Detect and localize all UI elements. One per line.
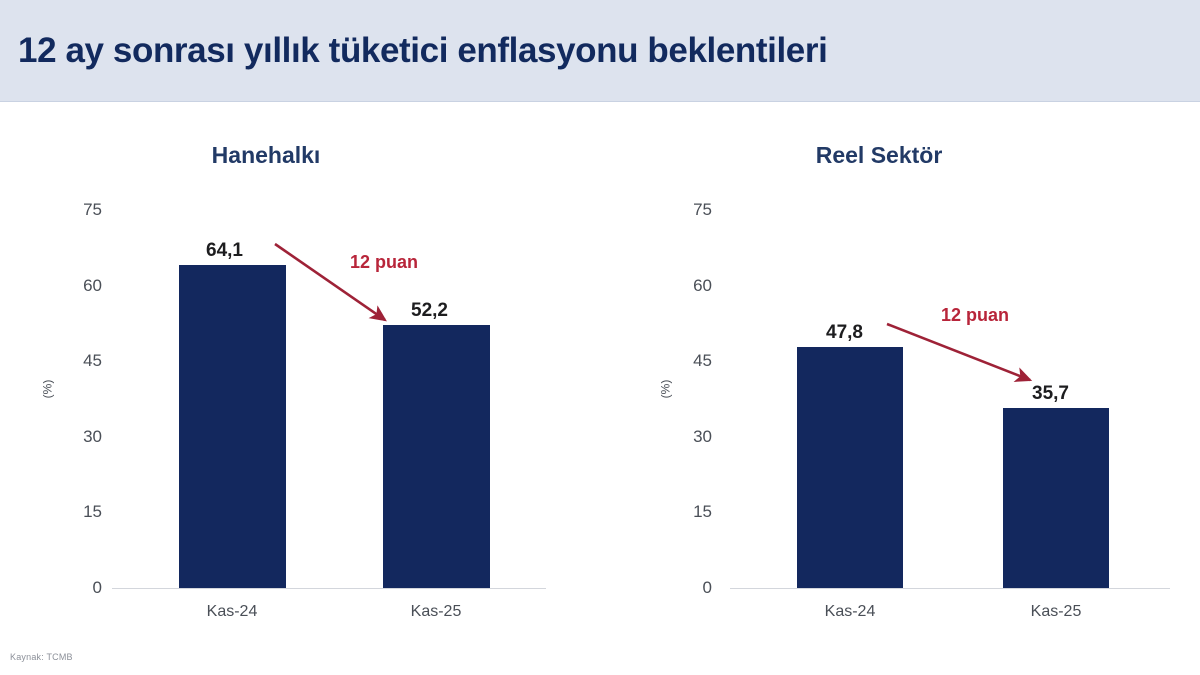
ytick-15: 15	[56, 502, 102, 522]
ytick-30: 30	[56, 427, 102, 447]
page-title: 12 ay sonrası yıllık tüketici enflasyonu…	[0, 31, 827, 71]
ytick-60: 60	[56, 276, 102, 296]
header-band: 12 ay sonrası yıllık tüketici enflasyonu…	[0, 0, 1200, 102]
bar-realsector-kas24[interactable]	[797, 347, 903, 588]
xtick-realsector-kas25: Kas-25	[1031, 603, 1082, 621]
x-axis-line	[730, 588, 1170, 589]
y-axis-label: (%)	[658, 380, 672, 399]
ytick-45: 45	[666, 351, 712, 371]
plot-area-household: 75 60 45 30 15 0 (%) 64,1 52,2 Kas-24 Ka…	[0, 102, 600, 642]
ytick-75: 75	[666, 200, 712, 220]
ytick-0: 0	[666, 578, 712, 598]
annotation-arrow-household	[0, 102, 600, 642]
annotation-label-household: 12 puan	[350, 252, 418, 273]
bar-realsector-kas25[interactable]	[1003, 408, 1109, 588]
ytick-15: 15	[666, 502, 712, 522]
ytick-30: 30	[666, 427, 712, 447]
x-axis-line	[112, 588, 546, 589]
y-axis-label: (%)	[40, 380, 54, 399]
source-note: Kaynak: TCMB	[10, 652, 73, 662]
bar-value-household-kas25: 52,2	[411, 300, 448, 322]
bar-value-realsector-kas25: 35,7	[1032, 383, 1069, 405]
xtick-household-kas24: Kas-24	[207, 603, 258, 621]
xtick-realsector-kas24: Kas-24	[825, 603, 876, 621]
ytick-0: 0	[56, 578, 102, 598]
annotation-label-realsector: 12 puan	[941, 305, 1009, 326]
plot-area-realsector: 75 60 45 30 15 0 (%) 47,8 35,7 Kas-24 Ka…	[600, 102, 1200, 642]
bar-household-kas25[interactable]	[383, 325, 490, 588]
chart-panel-realsector: Reel Sektör 75 60 45 30 15 0 (%) 47,8 35…	[600, 102, 1200, 642]
chart-panel-household: Hanehalkı 75 60 45 30 15 0 (%) 64,1 52,2…	[0, 102, 600, 642]
ytick-45: 45	[56, 351, 102, 371]
ytick-75: 75	[56, 200, 102, 220]
xtick-household-kas25: Kas-25	[411, 603, 462, 621]
bar-household-kas24[interactable]	[179, 265, 286, 588]
bar-value-household-kas24: 64,1	[206, 240, 243, 262]
ytick-60: 60	[666, 276, 712, 296]
bar-value-realsector-kas24: 47,8	[826, 322, 863, 344]
